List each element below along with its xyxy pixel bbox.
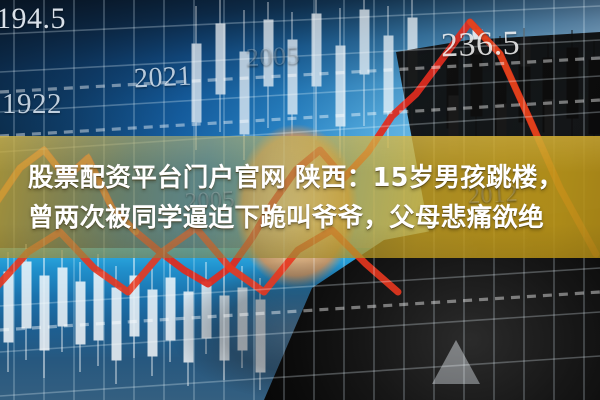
chart-annotation-2021: 2021 — [133, 61, 193, 96]
chart-annotation-2005: 2005 — [245, 41, 300, 74]
chart-annotation-194-5: 194.5 — [0, 2, 66, 36]
chart-annotation-236-5: 236.5 — [440, 25, 520, 66]
headline-overlay: 股票配资平台门户官网 陕西：15岁男孩跳楼， 曾两次被同学逼迫下跪叫爷爷，父母悲… — [28, 158, 576, 238]
headline-line-1: 股票配资平台门户官网 陕西：15岁男孩跳楼， — [28, 158, 576, 198]
news-banner-image: 194.5 1922 2021 2005 236.5 2005 2012 股票配… — [0, 0, 600, 400]
headline-line-2: 曾两次被同学逼迫下跪叫爷爷，父母悲痛欲绝 — [28, 198, 576, 238]
chart-annotation-1922: 1922 — [2, 88, 62, 121]
